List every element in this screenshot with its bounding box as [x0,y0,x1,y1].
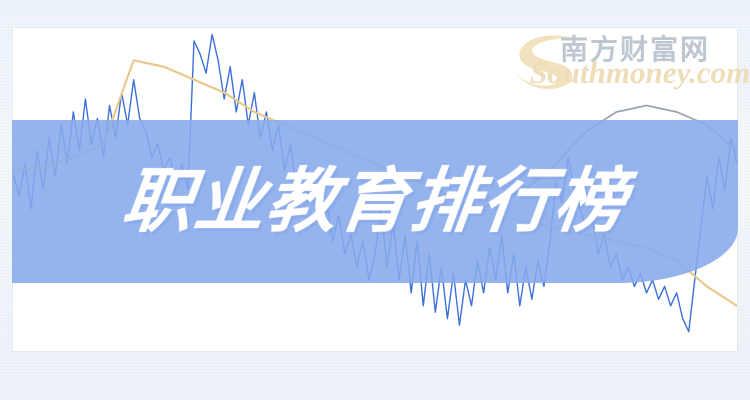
banner-root: 职业教育排行榜 南方财富网 Southmoney.com [0,0,750,400]
chart-series-group [13,34,737,331]
stock-chart-svg [13,28,737,351]
chart-line-price [13,34,737,331]
stock-chart-panel [12,27,738,352]
chart-line-moving-average-gray [435,106,737,216]
